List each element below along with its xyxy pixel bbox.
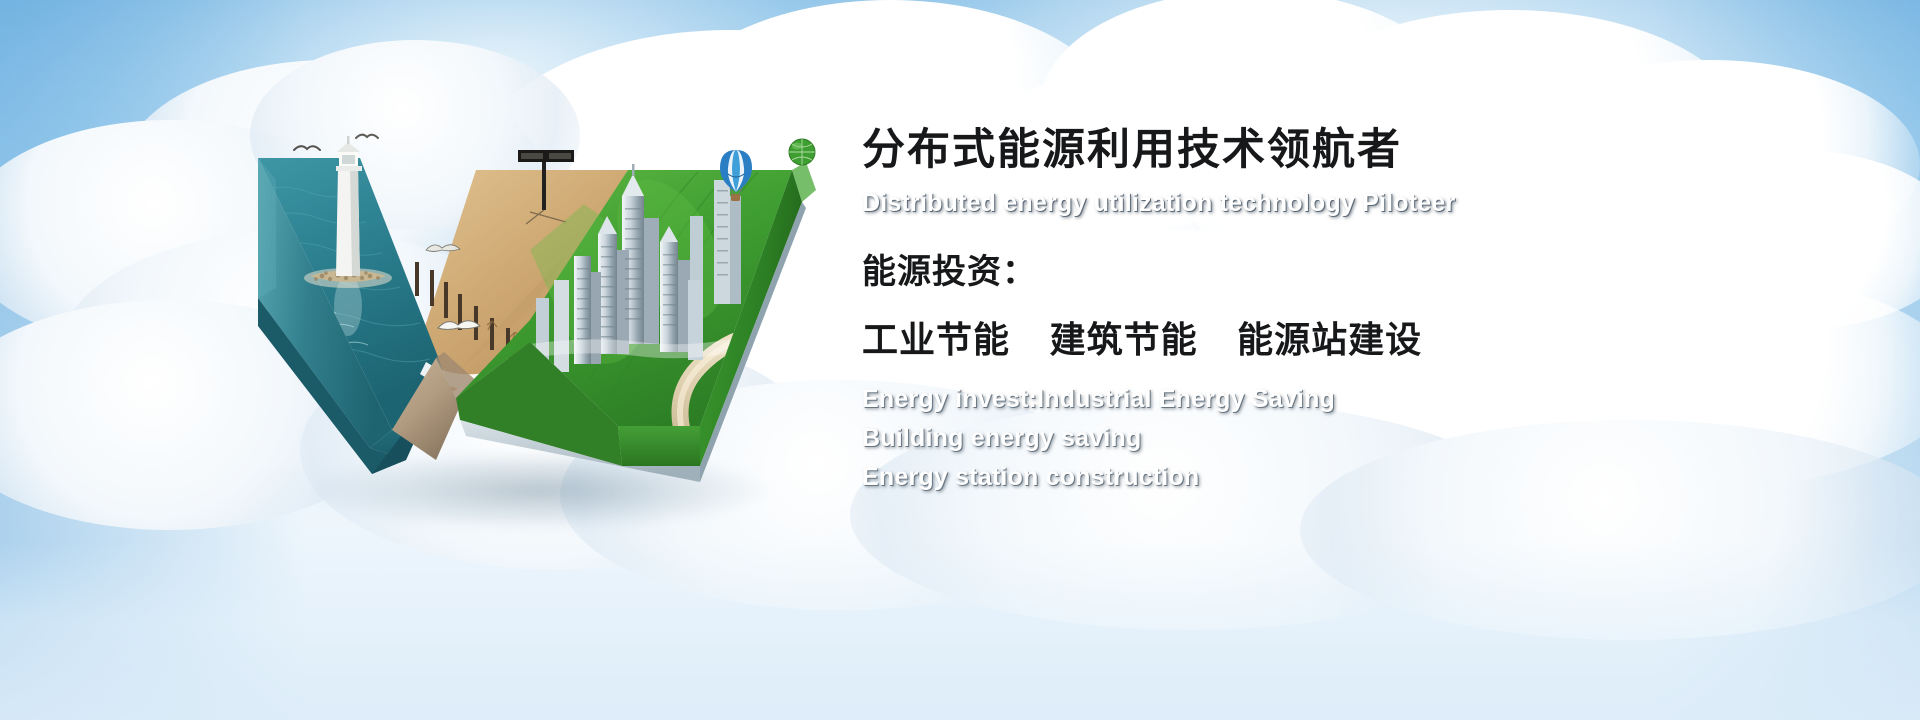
section-label-chinese: 能源投资： [862,244,1862,293]
service-item-energy-station: 能源站建设 [1237,320,1422,361]
service-english-line-3: Energy station construction [862,463,1862,492]
w-landscape-logo [230,130,850,500]
service-item-building: 建筑节能 [1050,320,1198,361]
subtitle-english: Distributed energy utilization technolog… [862,189,1862,218]
seagull-icons [294,135,378,150]
service-english-line-1: Energy invest:Industrial Energy Saving [862,385,1862,414]
services-chinese-list: 工业节能 建筑节能 能源站建设 [862,311,1862,363]
globe-icon [789,139,815,165]
service-english-line-2: Building energy saving [862,424,1862,453]
promo-banner: 分布式能源利用技术领航者 Distributed energy utilizat… [0,0,1920,720]
service-item-industrial: 工业节能 [862,320,1010,361]
headline-chinese: 分布式能源利用技术领航者 [862,126,1862,175]
banner-text-block: 分布式能源利用技术领航者 Distributed energy utilizat… [862,126,1862,492]
